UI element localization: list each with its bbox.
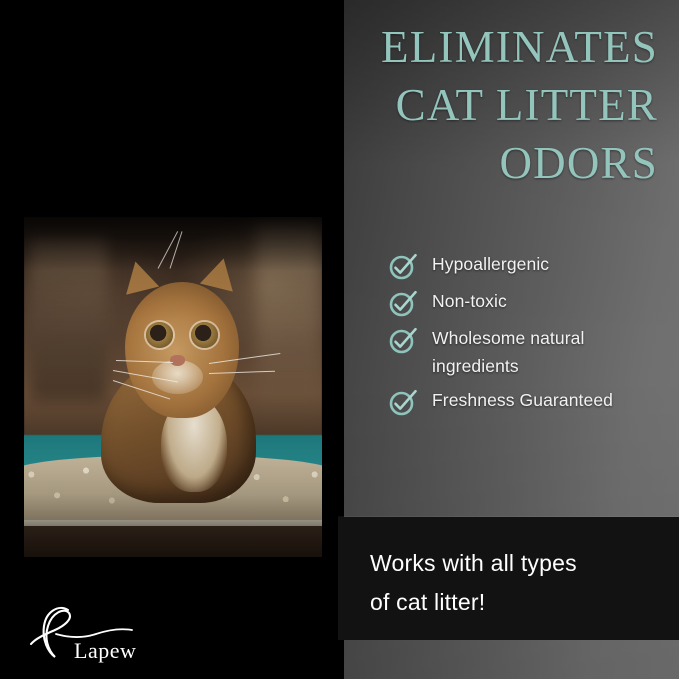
check-circle-icon [388,387,418,417]
feature-item-wholesome-natural-ingredients: Wholesome natural ingredients [388,324,674,380]
callout-line-1: Works with all types [370,544,660,583]
callout-text: Works with all types of cat litter! [370,544,660,622]
logo-wordmark: Lapew [74,638,136,664]
feature-label: Hypoallergenic [432,250,549,278]
check-circle-icon [388,325,418,355]
feature-item-non-toxic: Non-toxic [388,287,674,318]
headline: ELIMINATES CAT LITTER ODORS [300,18,658,192]
callout-line-2: of cat litter! [370,583,660,622]
feature-item-freshness-guaranteed: Freshness Guaranteed [388,386,674,417]
headline-line-2: CAT LITTER [300,76,658,134]
headline-line-1: ELIMINATES [300,18,658,76]
headline-line-3: ODORS [300,134,658,192]
kitten-litterbox-photo [24,217,322,557]
feature-label: Wholesome natural ingredients [432,324,674,380]
photo-tint-overlay [24,217,322,557]
product-ad-canvas: ELIMINATES CAT LITTER ODORS Hypoallergen… [0,0,679,679]
brand-logo: Lapew [22,600,182,664]
feature-list: Hypoallergenic Non-toxic Wholesome natur… [388,250,674,423]
feature-label: Non-toxic [432,287,507,315]
callout-box: Works with all types of cat litter! [338,517,679,640]
feature-label: Freshness Guaranteed [432,386,613,414]
check-circle-icon [388,251,418,281]
feature-item-hypoallergenic: Hypoallergenic [388,250,674,281]
check-circle-icon [388,288,418,318]
